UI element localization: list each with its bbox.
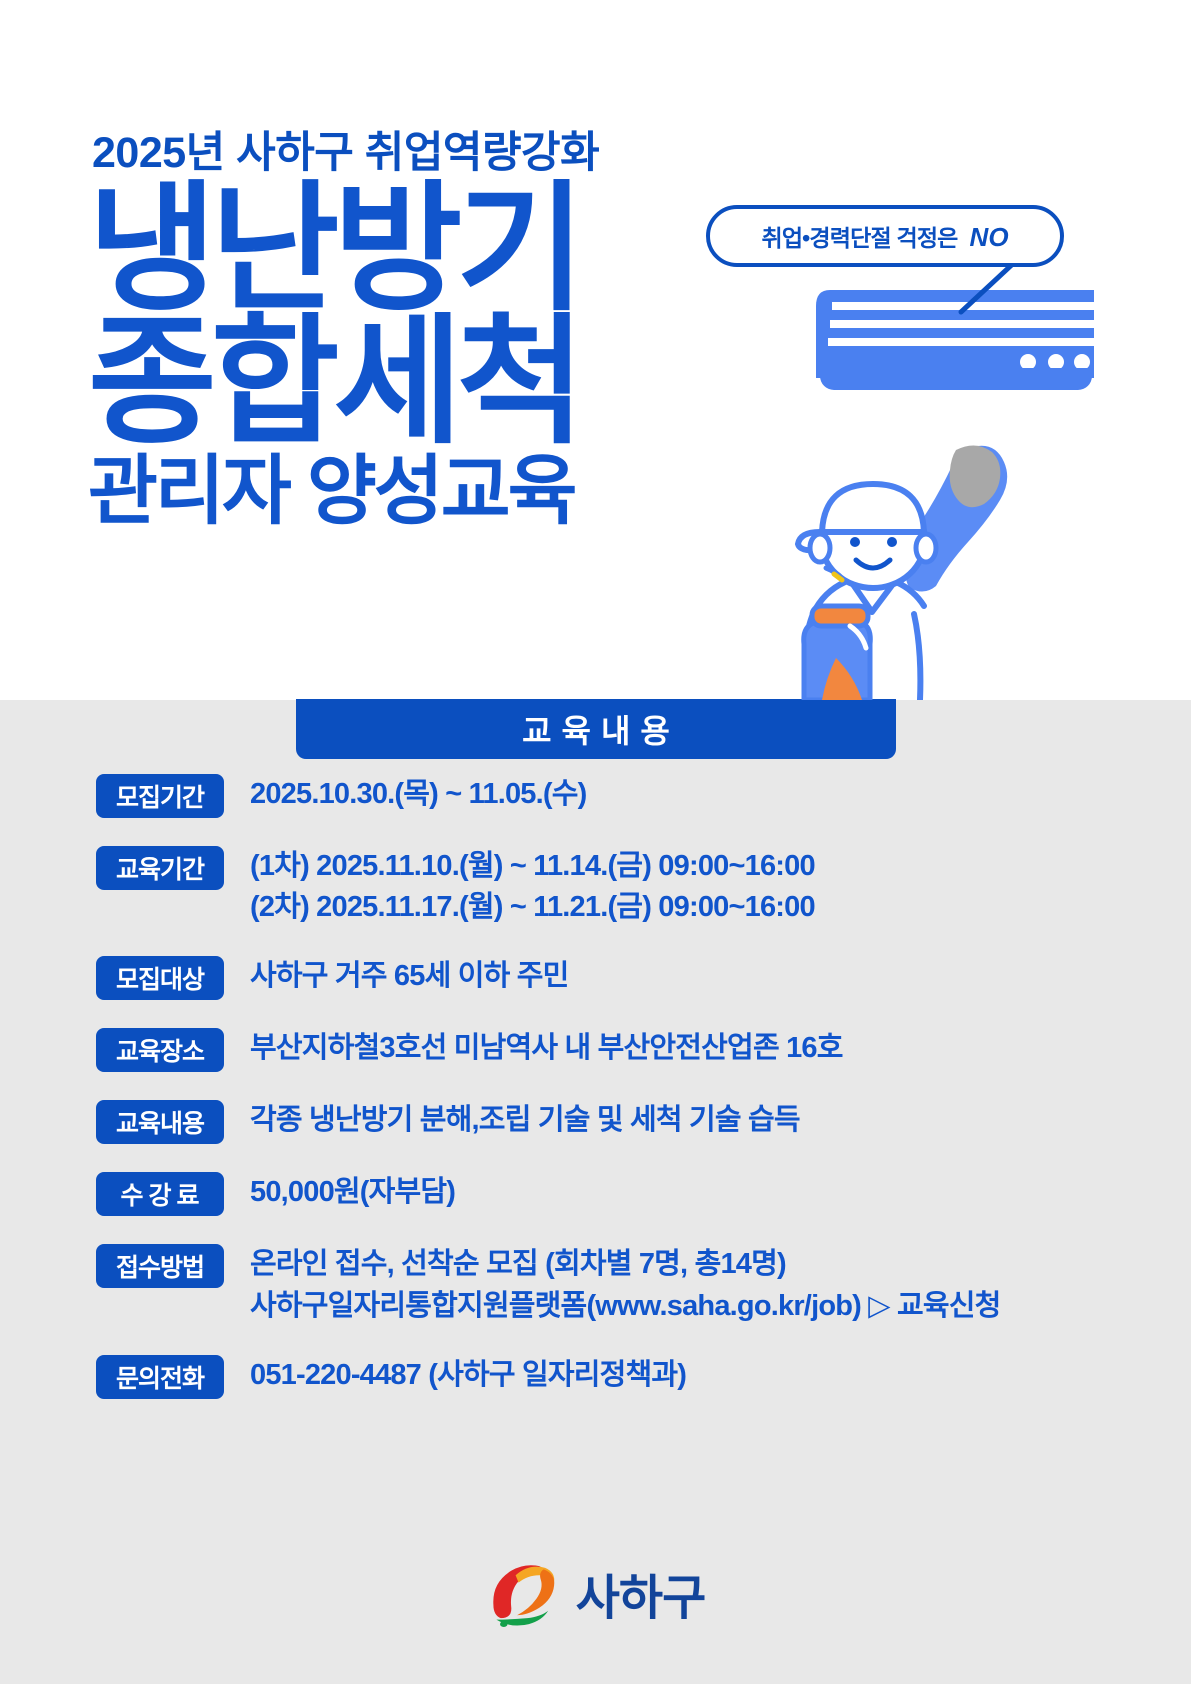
- info-row-value: 사하구 거주 65세 이하 주민: [250, 954, 1191, 997]
- details-section: 교육내용 모집기간2025.10.30.(목) ~ 11.05.(수)교육기간(…: [0, 700, 1191, 1684]
- info-row: 수강료50,000원(자부담): [0, 1170, 1191, 1216]
- info-row-value-line: 각종 냉난방기 분해,조립 기술 및 세척 기술 습득: [250, 1100, 1191, 1141]
- info-row-value: 부산지하철3호선 미남역사 내 부산안전산업존 16호: [250, 1026, 1191, 1069]
- speech-bubble: 취업•경력단절 걱정은NO: [706, 205, 1064, 267]
- poster-root: 2025년 사하구 취업역량강화 냉난방기 종합세척 관리자 양성교육 취업•경…: [0, 0, 1191, 1684]
- info-row: 모집대상사하구 거주 65세 이하 주민: [0, 954, 1191, 1000]
- info-row: 문의전화051-220-4487 (사하구 일자리정책과): [0, 1353, 1191, 1399]
- info-row-value-line: 051-220-4487 (사하구 일자리정책과): [250, 1355, 1191, 1396]
- info-row-value-line: (2차) 2025.11.17.(월) ~ 11.21.(금) 09:00~16…: [250, 887, 1191, 928]
- section-header: 교육내용: [296, 699, 896, 759]
- info-row-label: 교육내용: [96, 1100, 224, 1144]
- saha-gu-emblem-icon: [486, 1556, 560, 1630]
- info-row: 모집기간2025.10.30.(목) ~ 11.05.(수): [0, 772, 1191, 818]
- info-row-value: 온라인 접수, 선착순 모집 (회차별 7명, 총14명)사하구일자리통합지원플…: [250, 1242, 1191, 1326]
- info-row-value: 2025.10.30.(목) ~ 11.05.(수): [250, 772, 1191, 815]
- info-row-label: 교육장소: [96, 1028, 224, 1072]
- info-row: 교육기간(1차) 2025.11.10.(월) ~ 11.14.(금) 09:0…: [0, 844, 1191, 928]
- speech-bubble-main: 취업•경력단절 걱정은: [761, 225, 957, 251]
- title-line-2: 종합세척: [88, 318, 728, 447]
- title-line-1: 냉난방기: [88, 185, 728, 314]
- info-row: 교육장소부산지하철3호선 미남역사 내 부산안전산업존 16호: [0, 1026, 1191, 1072]
- info-row-value-line: 사하구 거주 65세 이하 주민: [250, 956, 1191, 997]
- speech-bubble-text: 취업•경력단절 걱정은NO: [761, 219, 1008, 253]
- footer: 사하구: [0, 1556, 1191, 1630]
- info-row-value-line: 온라인 접수, 선착순 모집 (회차별 7명, 총14명): [250, 1244, 1191, 1285]
- air-conditioner-base-icon: [820, 368, 1092, 390]
- info-row-label: 문의전화: [96, 1355, 224, 1399]
- speech-bubble-emphasis: NO: [970, 222, 1009, 252]
- info-row-value-line: (1차) 2025.11.10.(월) ~ 11.14.(금) 09:00~16…: [250, 846, 1191, 887]
- section-header-text: 교육내용: [512, 706, 680, 752]
- info-list: 모집기간2025.10.30.(목) ~ 11.05.(수)교육기간(1차) 2…: [0, 772, 1191, 1425]
- hero-section: 2025년 사하구 취업역량강화 냉난방기 종합세척 관리자 양성교육 취업•경…: [0, 0, 1191, 700]
- info-row-value: 각종 냉난방기 분해,조립 기술 및 세척 기술 습득: [250, 1098, 1191, 1141]
- info-row-value-line: 2025.10.30.(목) ~ 11.05.(수): [250, 774, 1191, 815]
- info-row-label: 모집기간: [96, 774, 224, 818]
- info-row-value-line: 50,000원(자부담): [250, 1172, 1191, 1213]
- info-row-label: 수강료: [96, 1172, 224, 1216]
- info-row-value: 051-220-4487 (사하구 일자리정책과): [250, 1353, 1191, 1396]
- info-row: 접수방법온라인 접수, 선착순 모집 (회차별 7명, 총14명)사하구일자리통…: [0, 1242, 1191, 1326]
- info-row-value: (1차) 2025.11.10.(월) ~ 11.14.(금) 09:00~16…: [250, 844, 1191, 928]
- info-row: 교육내용각종 냉난방기 분해,조립 기술 및 세척 기술 습득: [0, 1098, 1191, 1144]
- info-row-value: 50,000원(자부담): [250, 1170, 1191, 1213]
- title-line-3: 관리자 양성교육: [88, 457, 728, 527]
- info-row-value-line: 부산지하철3호선 미남역사 내 부산안전산업존 16호: [250, 1028, 1191, 1069]
- info-row-label: 접수방법: [96, 1244, 224, 1288]
- info-row-label: 교육기간: [96, 846, 224, 890]
- info-row-value-line: 사하구일자리통합지원플랫폼(www.saha.go.kr/job) ▷ 교육신청: [250, 1286, 1191, 1327]
- worker-illustration-icon: [700, 400, 1100, 700]
- info-row-label: 모집대상: [96, 956, 224, 1000]
- poster-title: 냉난방기 종합세척 관리자 양성교육: [88, 185, 728, 527]
- footer-org-name: 사하구: [576, 1558, 705, 1628]
- speech-bubble-tail-icon: [955, 258, 1025, 318]
